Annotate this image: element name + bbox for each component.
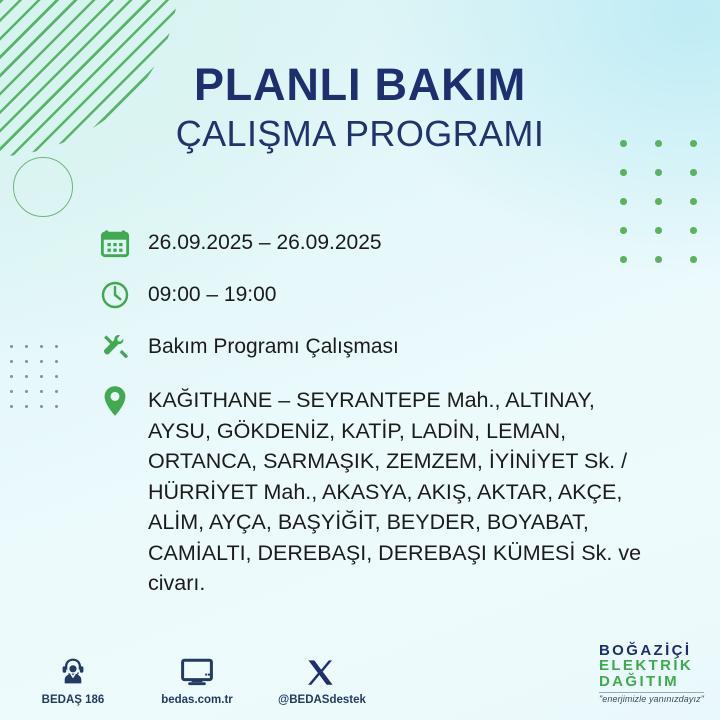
- dot: [10, 405, 13, 408]
- page-subtitle: ÇALIŞMA PROGRAMI: [0, 116, 720, 152]
- dot: [10, 360, 13, 363]
- location-pin-icon: [100, 382, 134, 418]
- brand-line-2: ELEKTRİK: [599, 658, 704, 673]
- info-row-work-type: Bakım Programı Çalışması: [100, 330, 660, 364]
- dot: [25, 375, 28, 378]
- dot: [40, 390, 43, 393]
- dot: [40, 405, 43, 408]
- brand-line-3: DAĞITIM: [599, 674, 704, 689]
- info-row-date: 26.09.2025 – 26.09.2025: [100, 226, 660, 260]
- dot: [690, 198, 697, 205]
- dot: [25, 345, 28, 348]
- circle-outline-decoration: [13, 157, 73, 217]
- dot: [55, 375, 58, 378]
- monitor-icon: [154, 652, 240, 688]
- dot: [655, 198, 662, 205]
- contact-website[interactable]: bedas.com.tr: [154, 652, 240, 706]
- info-block: 26.09.2025 – 26.09.2025 09:00 – 19:00: [100, 226, 660, 599]
- contact-website-label: bedas.com.tr: [154, 694, 240, 706]
- dot: [690, 227, 697, 234]
- time-range-text: 09:00 – 19:00: [134, 278, 660, 309]
- calendar-icon: [100, 226, 134, 260]
- contact-social[interactable]: @BEDASdestek: [278, 652, 364, 706]
- contact-call-center[interactable]: BEDAŞ 186: [30, 652, 116, 706]
- dot: [10, 345, 13, 348]
- tools-icon: [100, 330, 134, 364]
- dot: [55, 345, 58, 348]
- page-title: PLANLI BAKIM: [0, 62, 720, 107]
- info-row-time: 09:00 – 19:00: [100, 278, 660, 312]
- work-type-text: Bakım Programı Çalışması: [134, 330, 660, 361]
- contact-social-label: @BEDASdestek: [278, 694, 364, 706]
- dot: [690, 169, 697, 176]
- dot: [55, 360, 58, 363]
- headset-support-icon: [30, 652, 116, 688]
- dot: [690, 256, 697, 263]
- dot: [40, 345, 43, 348]
- dot: [55, 390, 58, 393]
- dot: [40, 360, 43, 363]
- dot: [620, 169, 627, 176]
- poster-header: PLANLI BAKIM ÇALIŞMA PROGRAMI: [0, 62, 720, 152]
- dot: [25, 390, 28, 393]
- dot-grid-left-decoration: [10, 345, 66, 411]
- contact-call-center-label: BEDAŞ 186: [30, 694, 116, 706]
- dot: [40, 375, 43, 378]
- clock-icon: [100, 278, 134, 312]
- dot: [655, 169, 662, 176]
- dot: [55, 405, 58, 408]
- brand-slogan: "enerjimizle yanınızdayız": [599, 692, 704, 704]
- dot: [10, 375, 13, 378]
- footer-contacts: BEDAŞ 186 bedas.com.tr @BEDASdestek: [30, 652, 364, 706]
- dot: [10, 390, 13, 393]
- brand-logo: BOĞAZİÇİ ELEKTRİK DAĞITIM "enerjimizle y…: [599, 643, 704, 704]
- dot: [25, 360, 28, 363]
- address-text: KAĞITHANE – SEYRANTEPE Mah., ALTINAY, AY…: [134, 382, 660, 599]
- dot: [25, 405, 28, 408]
- dot: [620, 198, 627, 205]
- date-range-text: 26.09.2025 – 26.09.2025: [134, 226, 660, 257]
- x-twitter-icon: [278, 652, 364, 688]
- info-row-address: KAĞITHANE – SEYRANTEPE Mah., ALTINAY, AY…: [100, 382, 660, 599]
- brand-line-1: BOĞAZİÇİ: [599, 643, 704, 658]
- planned-maintenance-poster: PLANLI BAKIM ÇALIŞMA PROGRAMI 26: [0, 0, 720, 720]
